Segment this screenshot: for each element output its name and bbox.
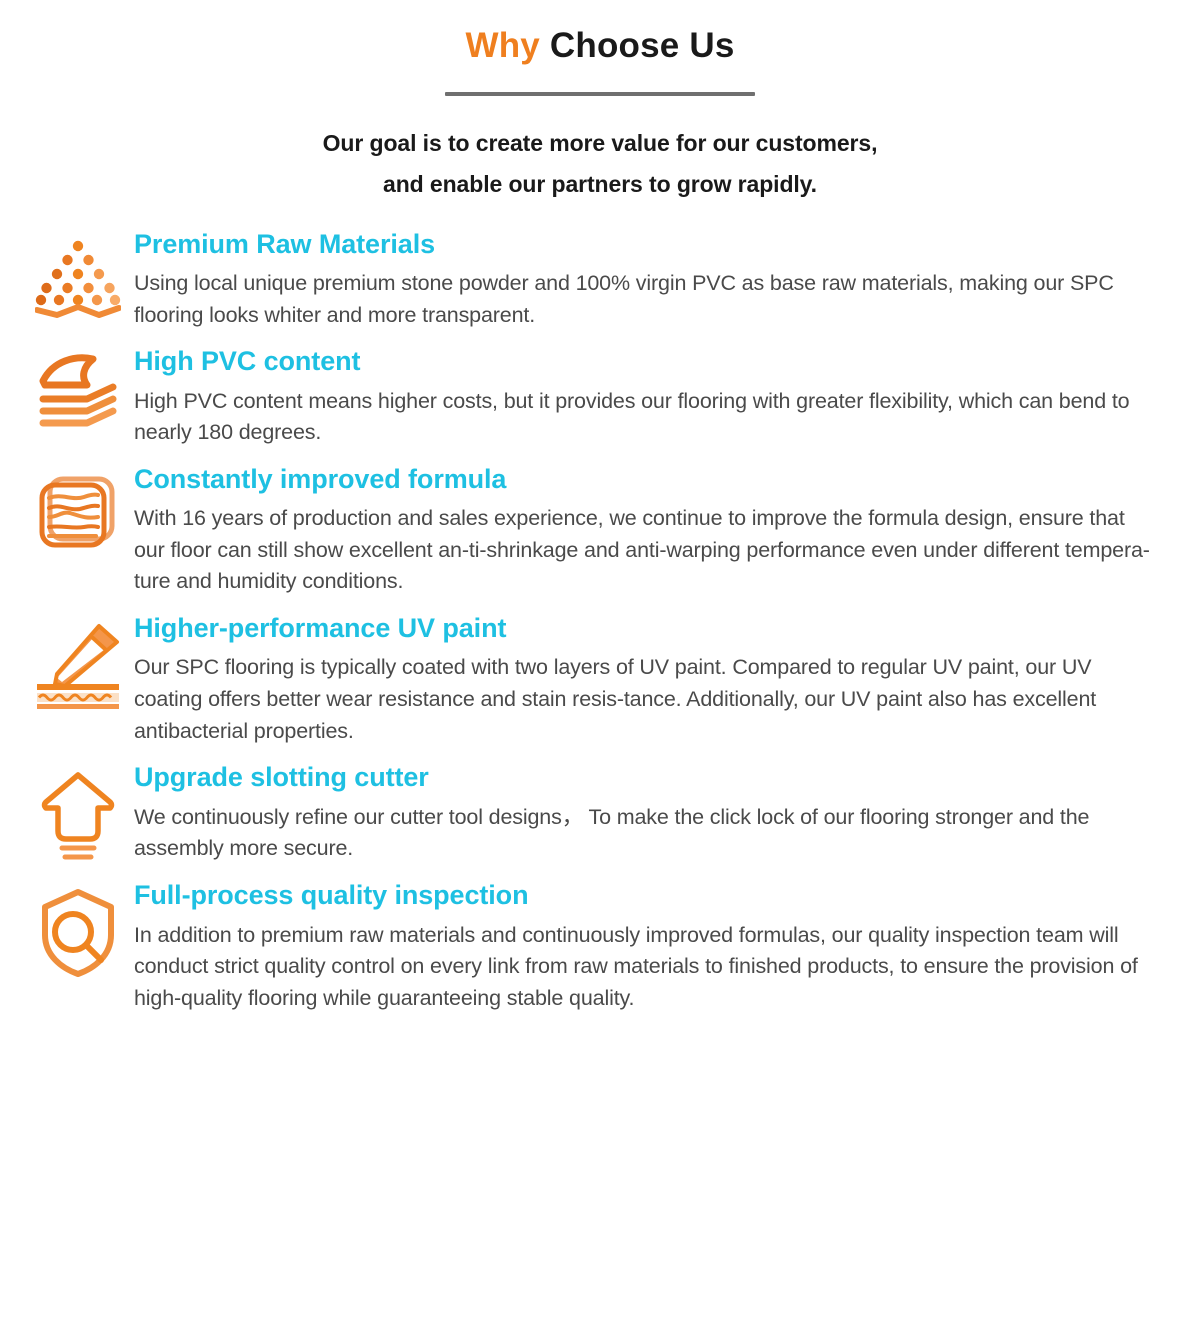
feature-title: High PVC content bbox=[134, 345, 1150, 377]
why-choose-us-page: Why Choose Us Our goal is to create more… bbox=[0, 0, 1200, 1334]
feature-body: Higher-performance UV paint Our SPC floo… bbox=[134, 612, 1178, 747]
page-title: Why Choose Us bbox=[0, 26, 1200, 66]
page-title-rest: Choose Us bbox=[540, 26, 735, 65]
feature-item: Full-process quality inspection In addit… bbox=[22, 879, 1178, 1014]
feature-text: In addition to premium raw materials and… bbox=[134, 920, 1150, 1015]
page-subtitle: Our goal is to create more value for our… bbox=[0, 123, 1200, 204]
wood-grain-plank-icon bbox=[22, 463, 134, 553]
feature-item: Constantly improved formula With 16 year… bbox=[22, 463, 1178, 598]
feature-body: Upgrade slotting cutter We continuously … bbox=[134, 761, 1178, 865]
feature-title: Constantly improved formula bbox=[134, 463, 1150, 495]
subtitle-line-2: and enable our partners to grow rapidly. bbox=[0, 164, 1200, 204]
title-divider bbox=[445, 92, 755, 96]
page-title-accent: Why bbox=[465, 26, 539, 65]
feature-text: We continuously refine our cutter tool d… bbox=[134, 802, 1150, 865]
feature-item: High PVC content High PVC content means … bbox=[22, 345, 1178, 449]
feature-text: With 16 years of production and sales ex… bbox=[134, 503, 1150, 598]
feature-text: Using local unique premium stone powder … bbox=[134, 268, 1150, 331]
feature-text: Our SPC flooring is typically coated wit… bbox=[134, 652, 1150, 747]
shield-magnifier-icon bbox=[22, 879, 134, 979]
feature-title: Upgrade slotting cutter bbox=[134, 761, 1150, 793]
feature-title: Higher-performance UV paint bbox=[134, 612, 1150, 644]
paint-brush-coating-icon bbox=[22, 612, 134, 710]
upgrade-arrow-icon bbox=[22, 761, 134, 865]
feature-item: Higher-performance UV paint Our SPC floo… bbox=[22, 612, 1178, 747]
feature-body: Full-process quality inspection In addit… bbox=[134, 879, 1178, 1014]
feature-body: Constantly improved formula With 16 year… bbox=[134, 463, 1178, 598]
page-header: Why Choose Us bbox=[0, 0, 1200, 96]
feature-item: Premium Raw Materials Using local unique… bbox=[22, 228, 1178, 332]
stone-powder-icon bbox=[22, 228, 134, 318]
feature-title: Full-process quality inspection bbox=[134, 879, 1150, 911]
layered-sheets-icon bbox=[22, 345, 134, 431]
feature-title: Premium Raw Materials bbox=[134, 228, 1150, 260]
feature-body: Premium Raw Materials Using local unique… bbox=[134, 228, 1178, 332]
subtitle-line-1: Our goal is to create more value for our… bbox=[0, 123, 1200, 163]
feature-item: Upgrade slotting cutter We continuously … bbox=[22, 761, 1178, 865]
feature-list: Premium Raw Materials Using local unique… bbox=[0, 228, 1200, 1015]
feature-body: High PVC content High PVC content means … bbox=[134, 345, 1178, 449]
feature-text: High PVC content means higher costs, but… bbox=[134, 386, 1150, 449]
